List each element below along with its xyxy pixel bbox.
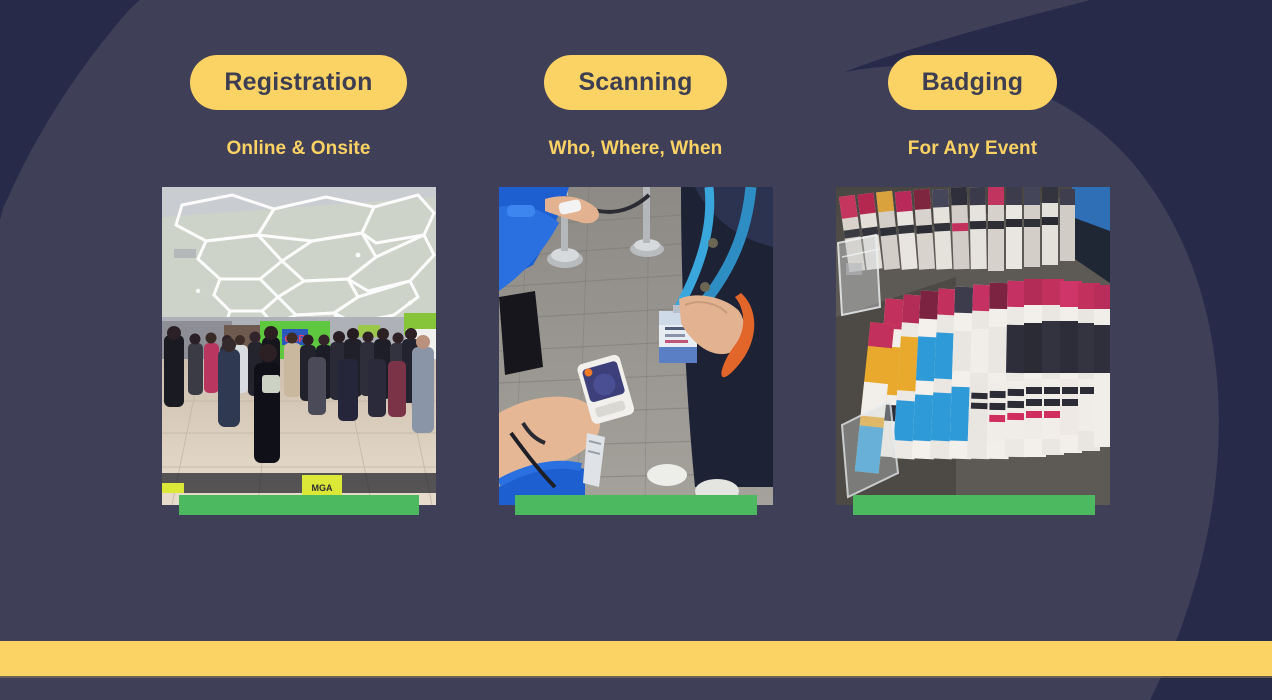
subtitle-badging: For Any Event [908,138,1037,160]
green-accent-bar-scanning [515,495,757,515]
columns-row: Registration Online & Onsite [0,0,1272,640]
photo-wrap-registration: CSR [162,187,436,505]
slide-root: Registration Online & Onsite [0,0,1272,700]
bottom-yellow-band [0,641,1272,676]
subtitle-registration: Online & Onsite [226,138,370,160]
pill-scanning[interactable]: Scanning [544,55,726,110]
column-scanning: Scanning Who, Where, When [467,0,804,505]
photo-badge-scanning [499,187,773,505]
photo-exhibition-hall: CSR [162,187,436,505]
svg-text:MGA: MGA [311,483,332,493]
bottom-band-rule [0,676,1272,678]
subtitle-scanning: Who, Where, When [549,138,723,160]
green-accent-bar-registration [179,495,419,515]
photo-printed-badges [836,187,1110,505]
photo-wrap-badging [836,187,1110,505]
green-accent-bar-badging [853,495,1095,515]
pill-registration[interactable]: Registration [190,55,406,110]
column-badging: Badging For Any Event [804,0,1141,505]
photo-wrap-scanning [499,187,773,505]
column-registration: Registration Online & Onsite [130,0,467,505]
pill-badging[interactable]: Badging [888,55,1057,110]
